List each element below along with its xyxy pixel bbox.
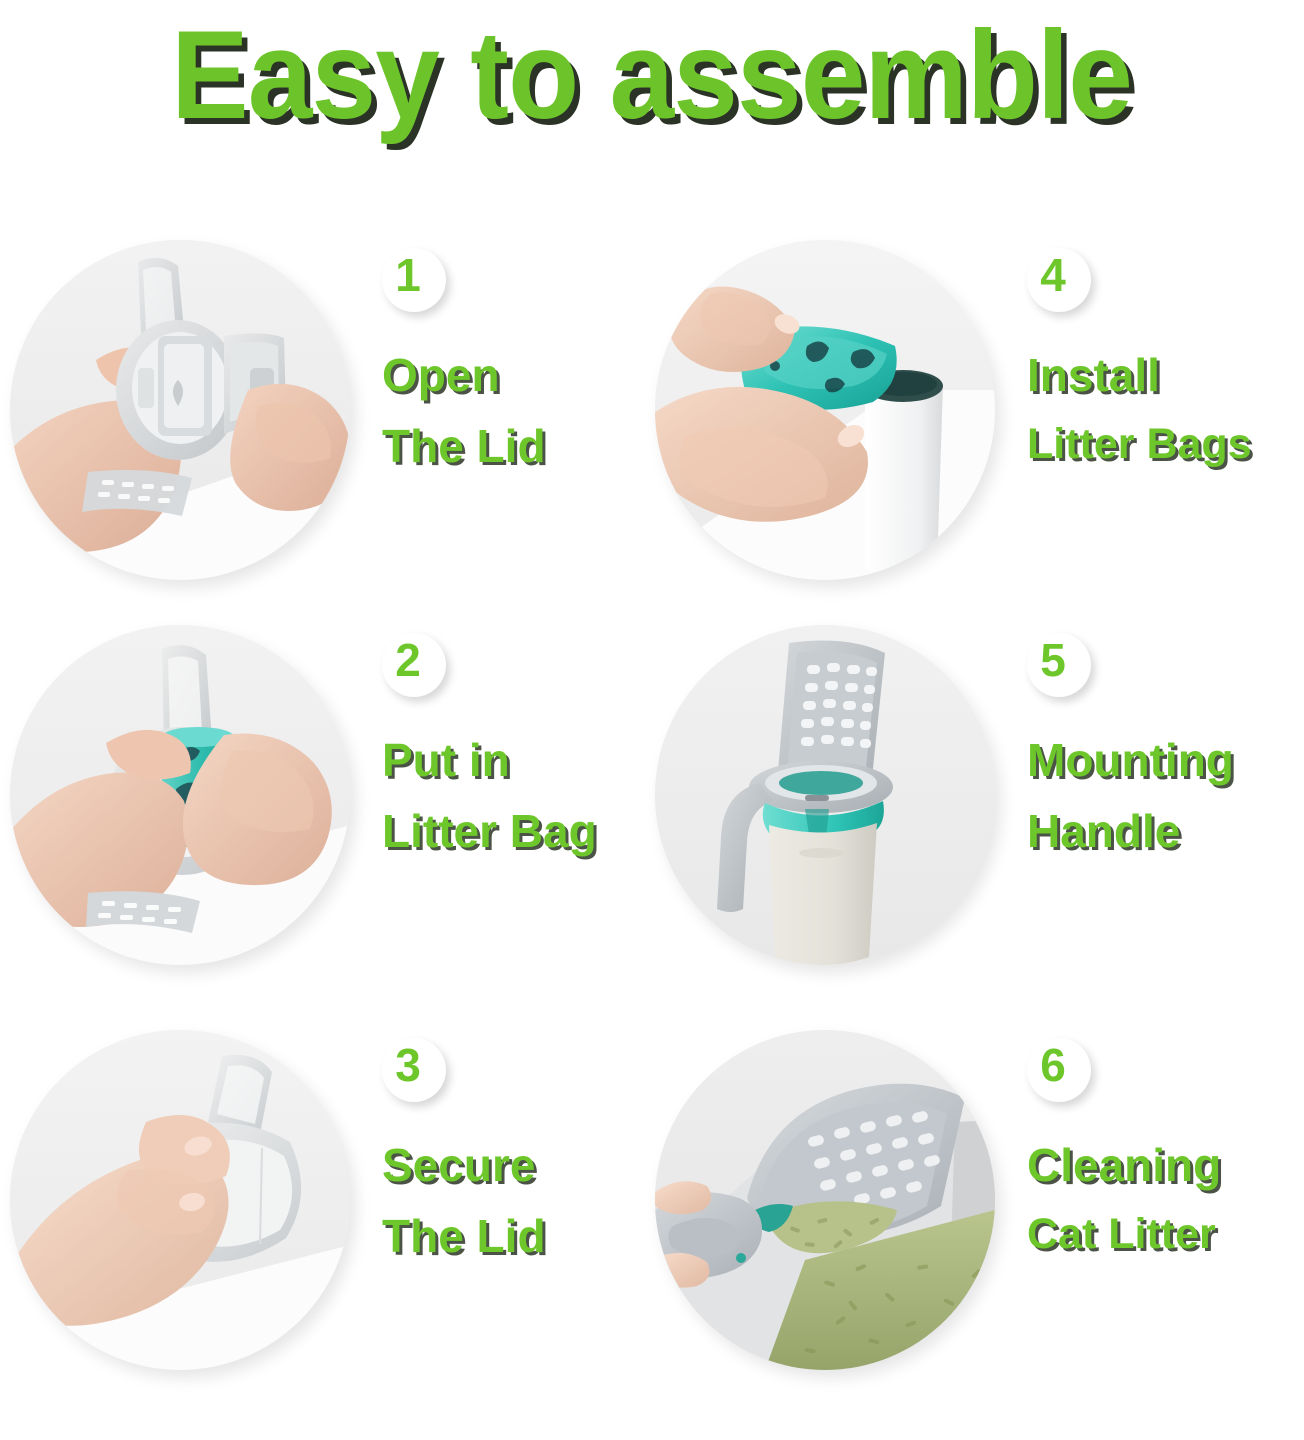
step-4-label-line1: Install	[1027, 340, 1299, 411]
step-6-photo	[655, 1030, 995, 1370]
step-1-label-line1: Open	[382, 340, 654, 411]
step-1: 1 Open The Lid	[10, 240, 662, 650]
step-4-photo	[655, 240, 995, 580]
step-5-number: 5	[1040, 637, 1066, 683]
step-1-number: 1	[395, 252, 421, 298]
step-5-photo	[655, 625, 995, 965]
step-2: 2 Put in Litter Bag	[10, 625, 662, 1035]
steps-grid: 1 Open The Lid	[0, 0, 1304, 1401]
step-5-badge: 5	[1027, 633, 1091, 697]
step-2-number: 2	[395, 637, 421, 683]
step-6-text: 6 Cleaning Cat Litter	[1027, 1038, 1299, 1268]
step-6: 6 Cleaning Cat Litter	[655, 1030, 1304, 1440]
step-6-label-line2: Cat Litter	[1027, 1201, 1299, 1268]
step-5-label-line1: Mounting	[1027, 725, 1299, 796]
step-1-label-line2: The Lid	[382, 411, 654, 482]
step-2-text: 2 Put in Litter Bag	[382, 633, 654, 868]
step-1-text: 1 Open The Lid	[382, 248, 654, 483]
step-2-badge: 2	[382, 633, 446, 697]
step-3-badge: 3	[382, 1038, 446, 1102]
step-4: 4 Install Litter Bags	[655, 240, 1304, 650]
step-3-label-line2: The Lid	[382, 1201, 654, 1272]
step-4-text: 4 Install Litter Bags	[1027, 248, 1299, 478]
step-4-number: 4	[1040, 252, 1066, 298]
step-6-label-line1: Cleaning	[1027, 1130, 1299, 1201]
step-2-photo	[10, 625, 350, 965]
step-3: 3 Secure The Lid	[10, 1030, 662, 1440]
step-4-label-line2: Litter Bags	[1027, 411, 1299, 478]
step-4-badge: 4	[1027, 248, 1091, 312]
step-3-number: 3	[395, 1042, 421, 1088]
step-6-badge: 6	[1027, 1038, 1091, 1102]
step-3-label-line1: Secure	[382, 1130, 654, 1201]
step-1-badge: 1	[382, 248, 446, 312]
step-6-number: 6	[1040, 1042, 1066, 1088]
step-5-text: 5 Mounting Handle	[1027, 633, 1299, 868]
step-5-label-line2: Handle	[1027, 796, 1299, 867]
step-3-photo	[10, 1030, 350, 1370]
step-2-label-line2: Litter Bag	[382, 796, 654, 867]
step-3-text: 3 Secure The Lid	[382, 1038, 654, 1273]
step-1-photo	[10, 240, 350, 580]
step-2-label-line1: Put in	[382, 725, 654, 796]
step-5: 5 Mounting Handle	[655, 625, 1304, 1035]
